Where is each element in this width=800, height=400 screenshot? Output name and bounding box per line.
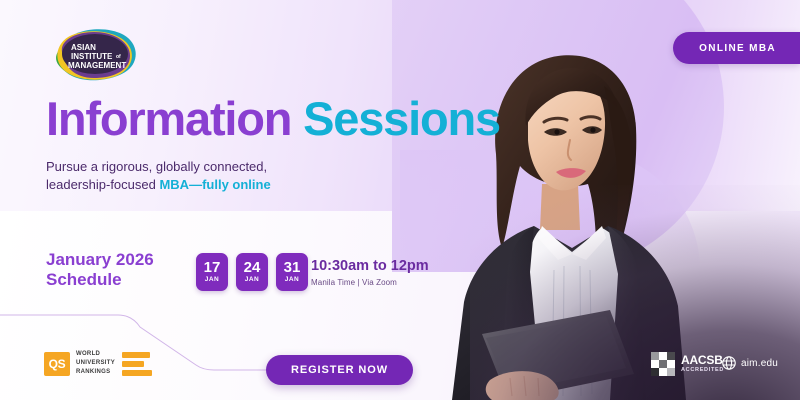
qs-label-rankings: RANKINGS (76, 369, 118, 376)
qs-bar (122, 352, 150, 358)
aim-logo-line3: MANAGEMENT (68, 61, 126, 70)
date-chip-month: JAN (285, 276, 300, 284)
register-now-button[interactable]: REGISTER NOW (266, 355, 413, 385)
qs-world-university-rankings-logo: QS WORLD UNIVERSITY RANKINGS (44, 351, 152, 376)
date-chip-day: 24 (244, 260, 261, 275)
date-chip[interactable]: 24 JAN (236, 253, 268, 291)
aacsb-checkered-square-icon (651, 352, 675, 376)
schedule-title-line-2: Schedule (46, 270, 154, 290)
schedule-title-line-1: January 2026 (46, 250, 154, 270)
website-link[interactable]: aim.edu (722, 356, 778, 370)
online-mba-badge-label: ONLINE MBA (699, 43, 776, 54)
qs-mark-label: QS (49, 357, 66, 371)
qs-bar (122, 370, 152, 376)
qs-label-world: WORLD (76, 351, 118, 358)
qs-text-lines: WORLD UNIVERSITY RANKINGS (76, 351, 152, 376)
aacsb-name: AACSB (681, 354, 724, 366)
date-chip-list: 17 JAN 24 JAN 31 JAN (196, 253, 308, 291)
subheading: Pursue a rigorous, globally connected, l… (46, 158, 271, 194)
date-chip-day: 31 (284, 260, 301, 275)
session-time: 10:30am to 12pm Manila Time | Via Zoom (311, 258, 429, 289)
qs-line-university: UNIVERSITY (76, 360, 152, 367)
aim-logo-line1: ASIAN (71, 43, 96, 52)
aacsb-text: AACSB ACCREDITED (681, 354, 724, 374)
session-time-note: Manila Time | Via Zoom (311, 277, 429, 289)
qs-mark-icon: QS (44, 352, 70, 376)
qs-label-university: UNIVERSITY (76, 360, 118, 367)
aacsb-status: ACCREDITED (681, 366, 724, 374)
subheading-line-1: Pursue a rigorous, globally connected, (46, 158, 271, 176)
subheading-accent: MBA—fully online (159, 177, 270, 192)
page-title: Information Sessions (46, 95, 500, 142)
headline-word-sessions: Sessions (303, 92, 500, 145)
date-chip[interactable]: 31 JAN (276, 253, 308, 291)
online-mba-badge: ONLINE MBA (673, 32, 800, 64)
globe-icon (722, 356, 736, 370)
website-url: aim.edu (741, 358, 778, 369)
date-chip-day: 17 (204, 260, 221, 275)
aim-logo: ASIAN INSTITUTE of MANAGEMENT (46, 26, 144, 84)
subheading-line-2-prefix: leadership-focused (46, 177, 159, 192)
aim-logo-line2: INSTITUTE (71, 52, 113, 61)
aacsb-accreditation-logo: AACSB ACCREDITED (651, 352, 724, 376)
qs-line-world: WORLD (76, 351, 152, 358)
subheading-line-2: leadership-focused MBA—fully online (46, 176, 271, 194)
information-sessions-banner: ONLINE MBA ASIAN INSTITUTE of MANAGEMENT… (0, 0, 800, 400)
qs-line-rankings: RANKINGS (76, 369, 152, 376)
qs-bar (122, 361, 144, 367)
date-chip[interactable]: 17 JAN (196, 253, 228, 291)
headline-word-information: Information (46, 92, 291, 145)
session-time-range: 10:30am to 12pm (311, 258, 429, 275)
date-chip-month: JAN (205, 276, 220, 284)
schedule-title: January 2026 Schedule (46, 250, 154, 290)
aim-logo-line2-small: of (116, 54, 121, 60)
date-chip-month: JAN (245, 276, 260, 284)
